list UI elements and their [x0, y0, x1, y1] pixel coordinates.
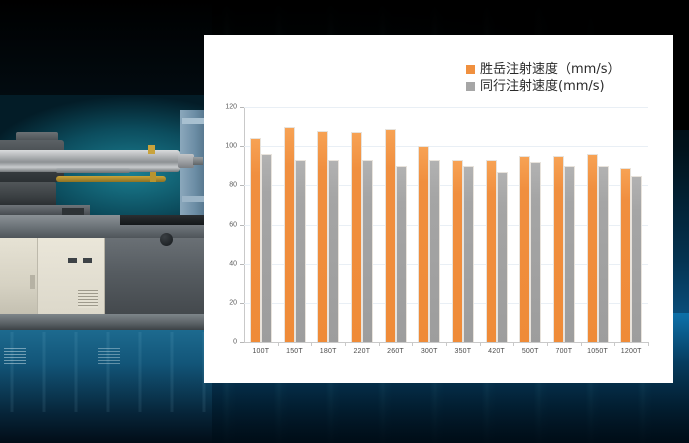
x-axis-tick	[379, 342, 380, 346]
photo-floor-grate-left	[4, 348, 26, 364]
slide-canvas: 胜岳注射速度（mm/s） 同行注射速度(mm/s) 02040608010012…	[0, 0, 689, 443]
bar-series-a[interactable]	[250, 138, 261, 342]
x-axis-tick	[614, 342, 615, 346]
photo-cabinet-button-left	[68, 258, 77, 263]
bar-series-b[interactable]	[396, 166, 407, 342]
photo-floor-streaks	[0, 332, 212, 412]
photo-cabinet-handle	[30, 275, 35, 289]
x-axis-tick-label: 1050T	[581, 348, 615, 355]
x-axis-tick-labels: 100T150T180T220T260T300T350T420T500T700T…	[244, 348, 648, 355]
x-axis-tick	[412, 342, 413, 346]
y-axis-tick-label: 80	[229, 182, 237, 189]
bar-group	[412, 107, 446, 342]
x-axis-tick	[345, 342, 346, 346]
bar-series-a[interactable]	[620, 168, 631, 342]
bar-series-a[interactable]	[519, 156, 530, 342]
x-axis-tick	[446, 342, 447, 346]
bar-series-b[interactable]	[295, 160, 306, 342]
bar-series-a[interactable]	[284, 127, 295, 342]
photo-machine-base	[0, 314, 212, 330]
legend-item-series-b[interactable]: 同行注射速度(mm/s)	[466, 80, 666, 93]
bar-series-b[interactable]	[261, 154, 272, 342]
injection-molding-machine-photo	[0, 0, 212, 443]
photo-cabinet-button-right	[83, 258, 92, 263]
bar-series-b[interactable]	[497, 172, 508, 342]
photo-nozzle	[193, 157, 203, 165]
chart-legend: 胜岳注射速度（mm/s） 同行注射速度(mm/s)	[466, 63, 666, 97]
x-axis-tick-label: 420T	[480, 348, 514, 355]
bar-series-a[interactable]	[452, 160, 463, 342]
bar-series-b[interactable]	[564, 166, 575, 342]
legend-label-series-b: 同行注射速度(mm/s)	[480, 80, 605, 93]
photo-brass-fitting-bottom	[150, 172, 156, 182]
y-axis-tick-label: 100	[225, 143, 237, 150]
x-axis-tick-label: 260T	[379, 348, 413, 355]
photo-guard-panel	[103, 238, 212, 314]
bar-group	[614, 107, 648, 342]
bar-group	[345, 107, 379, 342]
photo-round-knob	[160, 233, 173, 246]
bar-series-b[interactable]	[429, 160, 440, 342]
bar-series-a[interactable]	[385, 129, 396, 342]
x-axis-tick	[581, 342, 582, 346]
x-axis-tick-label: 500T	[513, 348, 547, 355]
x-axis-tick-label: 1200T	[614, 348, 648, 355]
bar-series-a[interactable]	[486, 160, 497, 342]
x-axis-tick	[480, 342, 481, 346]
y-axis-tick-label: 60	[229, 221, 237, 228]
bar-series-b[interactable]	[362, 160, 373, 342]
x-axis-tick	[648, 342, 649, 346]
x-axis-tick-label: 180T	[311, 348, 345, 355]
y-axis-tick-label: 0	[233, 339, 237, 346]
bar-series-b[interactable]	[530, 162, 541, 342]
y-axis-tick-label: 40	[229, 260, 237, 267]
legend-swatch-icon-series-b	[466, 82, 475, 91]
photo-guide-rod	[56, 168, 130, 173]
x-axis-tick-label: 150T	[278, 348, 312, 355]
bar-series-a[interactable]	[351, 132, 362, 342]
photo-cabinet-vents	[78, 290, 98, 308]
photo-floor-grate-right	[98, 348, 120, 364]
legend-swatch-icon-series-a	[466, 65, 475, 74]
x-axis-tick-label: 300T	[412, 348, 446, 355]
bar-series-b[interactable]	[598, 166, 609, 342]
x-axis-tick	[513, 342, 514, 346]
y-axis-tick-label: 20	[229, 299, 237, 306]
photo-platen-shadow	[120, 215, 212, 225]
y-axis-tick-label: 120	[225, 104, 237, 111]
bar-series-b[interactable]	[463, 166, 474, 342]
bar-group	[244, 107, 278, 342]
photo-barrel-tip	[178, 154, 194, 168]
bar-group	[446, 107, 480, 342]
bars-layer	[244, 107, 648, 342]
x-axis-tick-label: 220T	[345, 348, 379, 355]
bar-series-a[interactable]	[418, 146, 429, 342]
photo-brass-fitting-top	[148, 145, 155, 154]
bar-series-a[interactable]	[317, 131, 328, 343]
x-axis-tick-label: 700T	[547, 348, 581, 355]
bar-group	[278, 107, 312, 342]
bar-group	[379, 107, 413, 342]
bar-group	[311, 107, 345, 342]
bar-series-b[interactable]	[328, 160, 339, 342]
chart-panel: 胜岳注射速度（mm/s） 同行注射速度(mm/s) 02040608010012…	[204, 35, 673, 383]
x-axis-tick	[547, 342, 548, 346]
x-axis-tick	[311, 342, 312, 346]
x-axis-tick	[278, 342, 279, 346]
bar-series-a[interactable]	[587, 154, 598, 342]
y-axis-tick	[240, 342, 244, 343]
bar-series-b[interactable]	[631, 176, 642, 342]
legend-label-series-a: 胜岳注射速度（mm/s）	[480, 63, 620, 76]
x-axis-tick-label: 100T	[244, 348, 278, 355]
x-axis-tick-label: 350T	[446, 348, 480, 355]
bar-group	[547, 107, 581, 342]
bar-group	[513, 107, 547, 342]
bar-group	[581, 107, 615, 342]
bar-group	[480, 107, 514, 342]
bar-series-a[interactable]	[553, 156, 564, 342]
legend-item-series-a[interactable]: 胜岳注射速度（mm/s）	[466, 63, 666, 76]
chart-plot-area: 020406080100120	[244, 107, 648, 342]
